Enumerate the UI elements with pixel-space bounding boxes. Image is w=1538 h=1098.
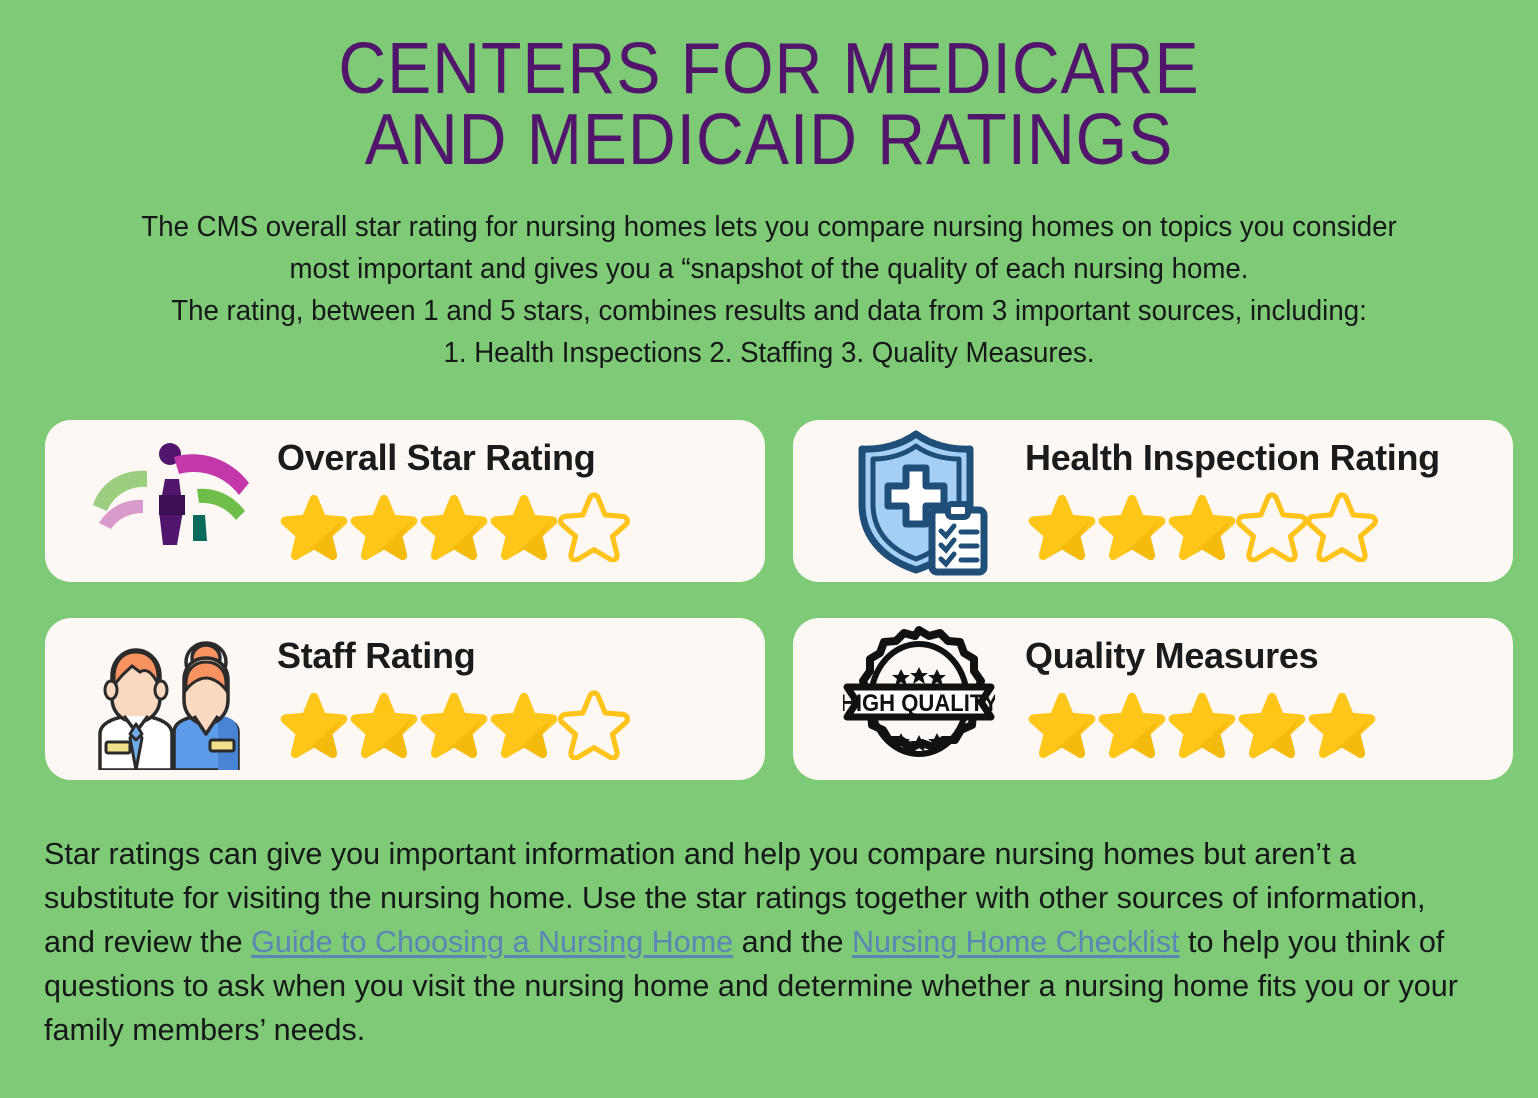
staff-people-icon xyxy=(71,624,271,774)
card-body-quality: Quality Measures xyxy=(1019,629,1495,769)
star-empty-icon xyxy=(1235,490,1309,562)
footer-text-part-2: and the xyxy=(733,924,852,959)
card-body-health: Health Inspection Rating xyxy=(1019,431,1495,571)
star-filled-icon xyxy=(347,688,421,760)
intro-paragraph: The CMS overall star rating for nursing … xyxy=(23,207,1515,375)
star-filled-icon xyxy=(417,490,491,562)
link-nursing-home-checklist[interactable]: Nursing Home Checklist xyxy=(852,924,1180,959)
footer-paragraph: Star ratings can give you important info… xyxy=(44,832,1474,1052)
star-filled-icon xyxy=(347,490,421,562)
star-filled-icon xyxy=(1025,688,1099,760)
intro-line-2: most important and gives you a “snapshot… xyxy=(81,249,1456,291)
high-quality-badge-icon: HIGH QUALITY xyxy=(819,624,1019,774)
star-filled-icon xyxy=(277,688,351,760)
card-staff-rating: Staff Rating xyxy=(45,618,765,780)
star-empty-icon xyxy=(1305,490,1379,562)
star-rating-health xyxy=(1025,490,1495,562)
card-body-overall: Overall Star Rating xyxy=(271,431,747,571)
star-rating-overall xyxy=(277,490,747,562)
intro-line-3: The rating, between 1 and 5 stars, combi… xyxy=(81,291,1456,333)
star-filled-icon xyxy=(487,490,561,562)
star-empty-icon xyxy=(557,490,631,562)
card-health-inspection-rating: Health Inspection Rating xyxy=(793,420,1513,582)
star-filled-icon xyxy=(1235,688,1309,760)
rating-cards-grid: Overall Star Rating xyxy=(45,420,1513,780)
card-title-health: Health Inspection Rating xyxy=(1025,440,1495,476)
intro-line-4: 1. Health Inspections 2. Staffing 3. Qua… xyxy=(81,333,1456,375)
star-filled-icon xyxy=(1025,490,1099,562)
star-filled-icon xyxy=(1165,688,1239,760)
intro-line-1: The CMS overall star rating for nursing … xyxy=(81,207,1456,249)
page-title-line-2: AND MEDICAID RATINGS xyxy=(62,105,1477,176)
card-body-staff: Staff Rating xyxy=(271,629,747,769)
card-overall-star-rating: Overall Star Rating xyxy=(45,420,765,582)
star-rating-quality xyxy=(1025,688,1495,760)
star-filled-icon xyxy=(1305,688,1379,760)
badge-text: HIGH QUALITY xyxy=(843,689,995,716)
card-title-overall: Overall Star Rating xyxy=(277,440,747,476)
star-filled-icon xyxy=(1095,490,1169,562)
infographic-page: CENTERS FOR MEDICARE AND MEDICAID RATING… xyxy=(0,0,1538,1098)
star-rating-staff xyxy=(277,688,747,760)
shield-clipboard-icon xyxy=(819,426,1019,576)
card-title-staff: Staff Rating xyxy=(277,638,747,674)
card-quality-measures: HIGH QUALITY Quality Measures xyxy=(793,618,1513,780)
link-guide-to-choosing-a-nursing-home[interactable]: Guide to Choosing a Nursing Home xyxy=(251,924,733,959)
wartburg-logo xyxy=(71,426,271,576)
star-filled-icon xyxy=(1095,688,1169,760)
card-title-quality: Quality Measures xyxy=(1025,638,1495,674)
page-title-line-1: CENTERS FOR MEDICARE xyxy=(62,34,1477,105)
star-filled-icon xyxy=(487,688,561,760)
star-filled-icon xyxy=(277,490,351,562)
star-filled-icon xyxy=(417,688,491,760)
page-title: CENTERS FOR MEDICARE AND MEDICAID RATING… xyxy=(62,0,1477,175)
star-filled-icon xyxy=(1165,490,1239,562)
star-empty-icon xyxy=(557,688,631,760)
